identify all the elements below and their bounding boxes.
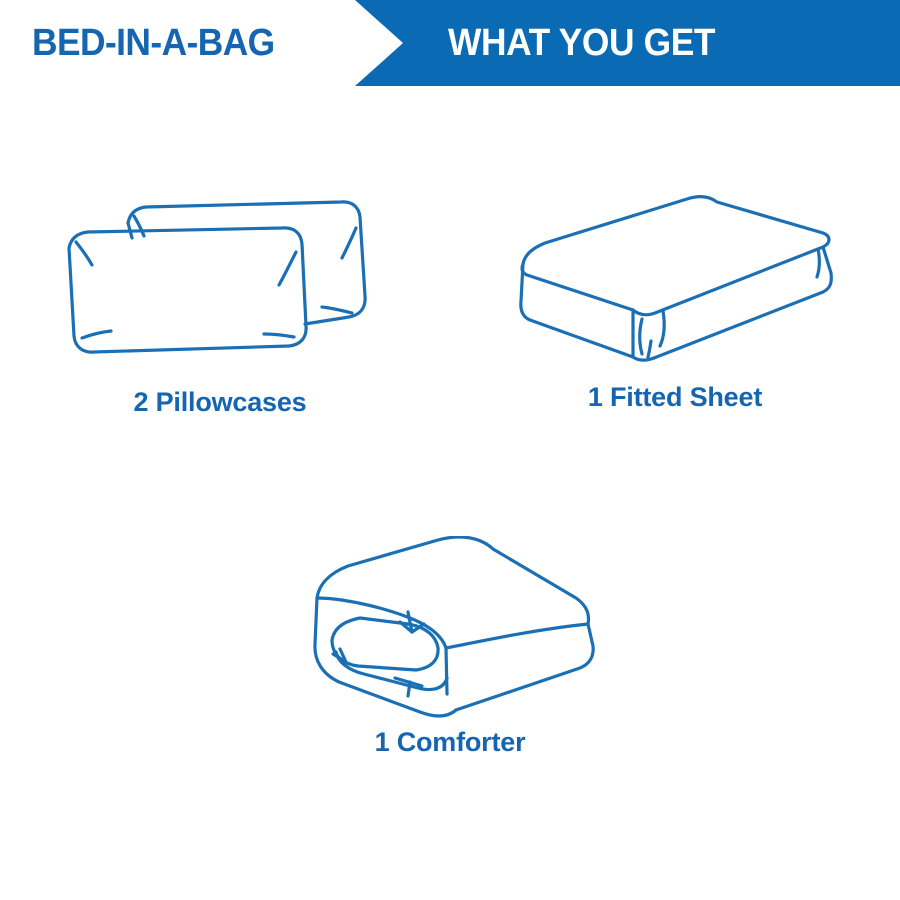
back-pillow-crease-tr (342, 228, 356, 258)
item-fitted-sheet: 1 Fitted Sheet (480, 191, 870, 413)
item-fitted-sheet-label: 1 Fitted Sheet (480, 382, 870, 413)
fitted-sheet-icon (505, 191, 845, 376)
comforter-top-outline (317, 537, 589, 624)
item-pillowcases-label: 2 Pillowcases (30, 387, 410, 418)
item-pillowcases: 2 Pillowcases (30, 186, 410, 418)
brand-title: BED-IN-A-BAG (32, 0, 275, 86)
header-banner: BED-IN-A-BAG WHAT YOU GET (0, 0, 900, 86)
comforter-top-front-edge (317, 598, 446, 648)
items-grid: 2 Pillowcases 1 Fitted Sheet (0, 86, 900, 900)
comforter-top-front-edge-right (446, 624, 588, 648)
sheet-corner-gather-center (648, 341, 651, 357)
front-pillow-crease-br (264, 334, 294, 337)
sheet-corner-gather-left (640, 319, 642, 354)
back-pillow-crease-br (322, 307, 352, 313)
comforter-icon (290, 536, 610, 721)
back-pillow-outline (128, 202, 365, 324)
sheet-corner-gather-far-right (817, 249, 819, 277)
headline-title: WHAT YOU GET (448, 0, 715, 86)
comforter-right-body (456, 624, 593, 710)
back-pillow-crease-tl (134, 216, 144, 236)
sheet-corner-gather-right (660, 311, 664, 346)
front-pillow-crease-bl (82, 331, 111, 338)
item-comforter: 1 Comforter (260, 536, 640, 758)
front-pillow-crease-tr (279, 252, 296, 285)
item-comforter-label: 1 Comforter (260, 727, 640, 758)
pillowcases-icon (60, 186, 380, 381)
comforter-crease-mark-7 (408, 682, 410, 696)
sheet-top-face (522, 197, 829, 315)
comforter-front-corner-edge (446, 648, 447, 694)
front-pillow-crease-tl (76, 242, 92, 265)
comforter-roll-under (336, 652, 447, 690)
